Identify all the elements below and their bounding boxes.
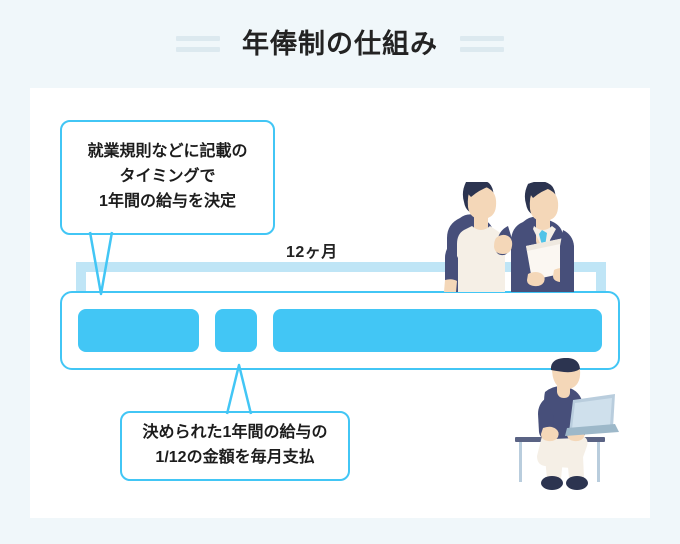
timeline-segment-c xyxy=(273,309,602,352)
title-decoration-right-icon xyxy=(460,36,504,52)
page-title: 年俸制の仕組み xyxy=(242,31,438,58)
callout-decision-line-1: 就業規則などに記載の xyxy=(87,140,247,165)
callout-monthly-payment-tail-icon xyxy=(222,364,256,414)
businessman-left xyxy=(444,182,505,292)
two-businessmen-illustration xyxy=(430,182,610,292)
callout-monthly-payment-line-1: 決められた1年間の給与の xyxy=(143,421,328,446)
page-header: 年俸制の仕組み xyxy=(0,22,680,66)
title-decoration-left-icon xyxy=(176,36,220,52)
callout-decision: 就業規則などに記載の タイミングで 1年間の給与を決定 xyxy=(60,120,275,235)
callout-decision-line-3: 1年間の給与を決定 xyxy=(99,190,236,215)
callout-monthly-payment-line-2: 1/12の金額を毎月支払 xyxy=(155,446,314,471)
person-with-laptop-illustration xyxy=(505,358,625,493)
callout-decision-tail-icon xyxy=(84,232,118,296)
timeline-segment-b xyxy=(215,309,257,352)
callout-decision-line-2: タイミングで xyxy=(119,165,215,190)
timeline-segment-a xyxy=(78,309,199,352)
callout-monthly-payment: 決められた1年間の給与の 1/12の金額を毎月支払 xyxy=(120,411,350,481)
businessman-right xyxy=(494,182,574,292)
span-label-12-months: 12ヶ月 xyxy=(286,238,338,262)
